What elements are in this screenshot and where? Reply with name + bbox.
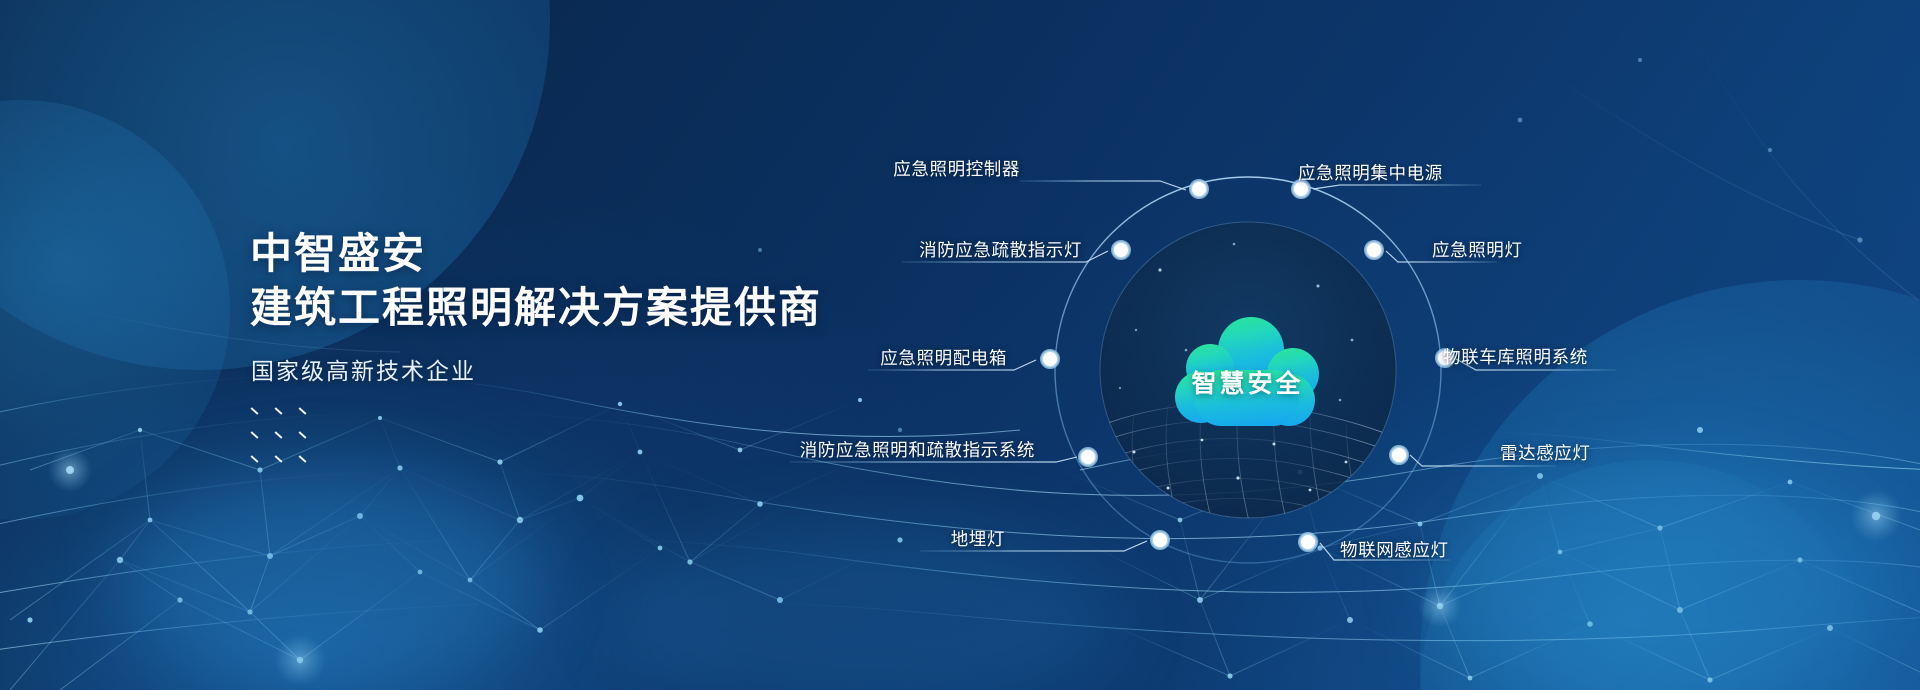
callout-radar-sensor-light[interactable]: 雷达感应灯: [1500, 440, 1591, 465]
callout-iot-garage-lighting-system[interactable]: 物联车库照明系统: [1443, 344, 1588, 369]
callout-emergency-lighting-distribution-box[interactable]: 应急照明配电箱: [880, 345, 1007, 370]
callout-emergency-lighting-central-power[interactable]: 应急照明集中电源: [1298, 160, 1443, 185]
callout-fire-emergency-lighting-system[interactable]: 消防应急照明和疏散指示系统: [800, 437, 1035, 462]
dot-grid-dash: [298, 455, 306, 463]
dot-grid-decoration: [250, 410, 322, 482]
headline-line-1: 中智盛安: [250, 228, 426, 280]
dot-grid-dash: [298, 431, 306, 439]
cloud-label: 智慧安全: [1155, 364, 1340, 400]
callout-emergency-lighting-controller[interactable]: 应急照明控制器: [893, 156, 1020, 181]
dot-grid-dash: [274, 431, 282, 439]
headline-line-2: 建筑工程照明解决方案提供商: [250, 282, 822, 334]
callout-fire-emergency-evacuation-sign[interactable]: 消防应急疏散指示灯: [919, 237, 1082, 262]
smart-safety-cloud-badge[interactable]: 智慧安全: [1155, 312, 1340, 432]
glow-bottom-left: [120, 470, 540, 690]
glow-bottom-center: [620, 520, 1120, 690]
callout-inground-light[interactable]: 地埋灯: [951, 526, 1005, 551]
callout-emergency-luminaire[interactable]: 应急照明灯: [1432, 237, 1523, 262]
dot-grid-dash: [250, 455, 258, 463]
subtitle: 国家级高新技术企业: [251, 352, 476, 386]
glow-bottom-right: [1430, 470, 1890, 690]
callout-iot-sensor-light[interactable]: 物联网感应灯: [1340, 537, 1449, 562]
dot-grid-dash: [250, 431, 258, 439]
hero-banner: 中智盛安 建筑工程照明解决方案提供商 国家级高新技术企业: [0, 0, 1920, 690]
dot-grid-dash: [274, 455, 282, 463]
